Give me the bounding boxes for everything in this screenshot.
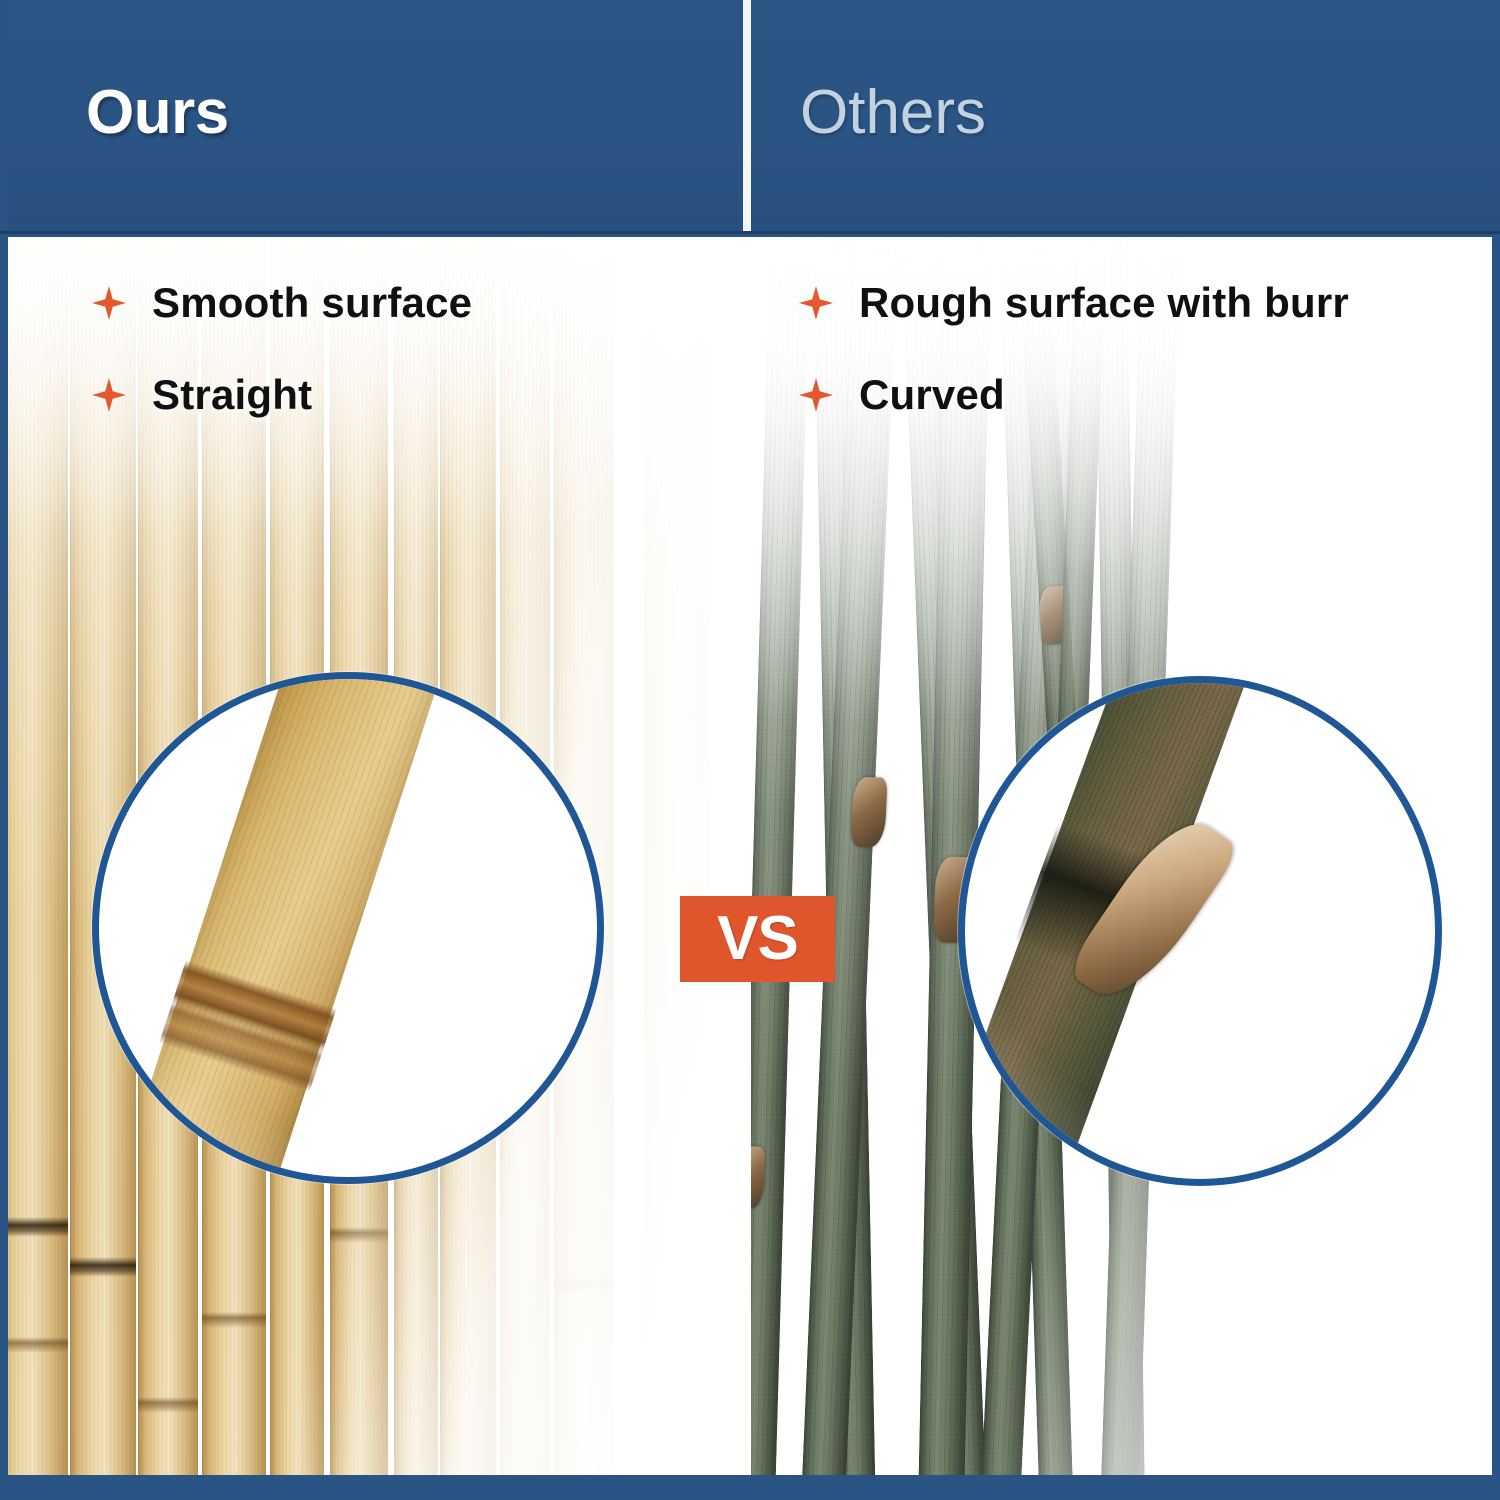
- ours-bullet-list: Smooth surface Straight: [92, 279, 472, 463]
- header-left-edge: [0, 0, 8, 234]
- bullet-item: Curved: [799, 371, 1349, 419]
- bullet-label: Rough surface with burr: [859, 279, 1349, 327]
- four-point-star-icon: [799, 286, 833, 320]
- vs-badge: VS: [680, 896, 835, 982]
- bullet-label: Straight: [152, 371, 312, 419]
- four-point-star-icon: [92, 378, 126, 412]
- header-divider: [743, 0, 751, 234]
- ours-magnifier-circle: [92, 672, 604, 1184]
- vs-label: VS: [717, 908, 798, 970]
- others-magnifier-circle: [958, 676, 1442, 1186]
- panel-seam: [743, 237, 751, 1475]
- four-point-star-icon: [799, 378, 833, 412]
- others-bullet-list: Rough surface with burr Curved: [799, 279, 1349, 463]
- bullet-item: Smooth surface: [92, 279, 472, 327]
- ours-title: Ours: [86, 82, 229, 144]
- four-point-star-icon: [92, 286, 126, 320]
- bullet-label: Smooth surface: [152, 279, 472, 327]
- comparison-infographic: Ours Others: [0, 0, 1500, 1500]
- bullet-item: Rough surface with burr: [799, 279, 1349, 327]
- others-title: Others: [800, 82, 986, 144]
- bullet-label: Curved: [859, 371, 1005, 419]
- bullet-item: Straight: [92, 371, 472, 419]
- header-band: Ours Others: [0, 0, 1500, 234]
